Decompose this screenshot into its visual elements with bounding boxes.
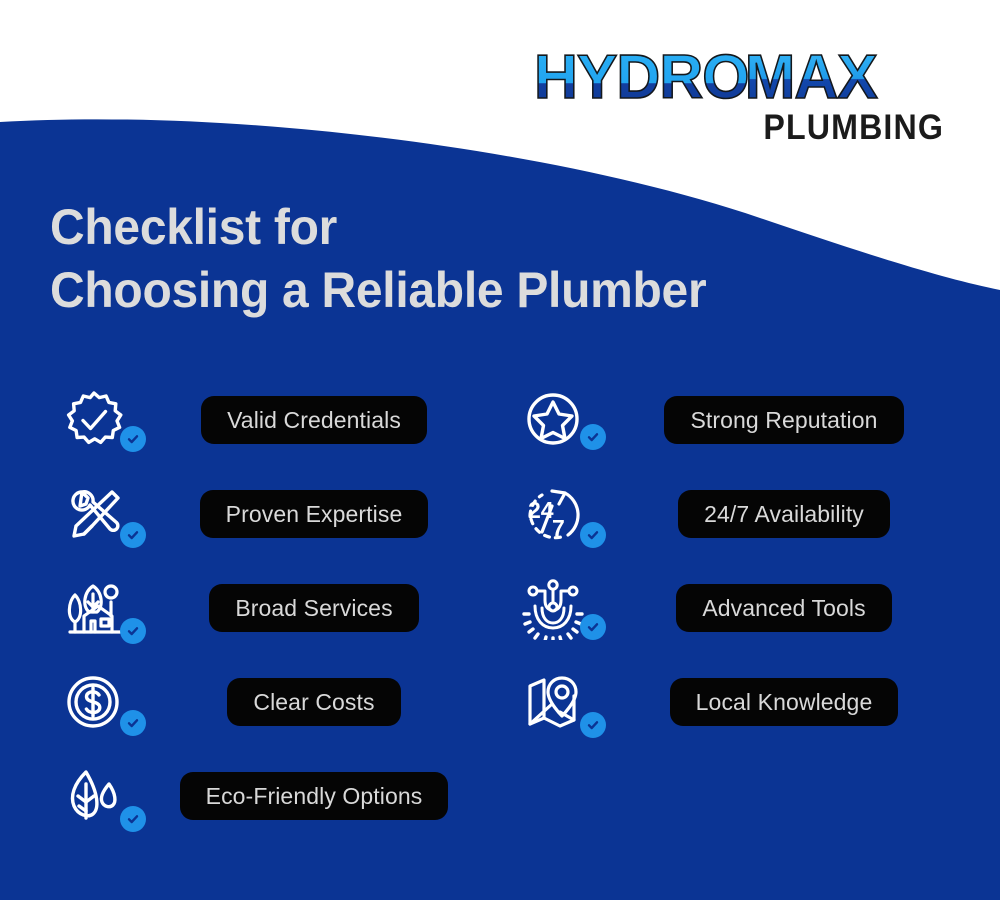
checklist-label[interactable]: Valid Credentials <box>201 396 427 444</box>
checklist-label[interactable]: Local Knowledge <box>670 678 899 726</box>
poster-canvas: HYDRO MAX PLUMBING Checklist for Choosin… <box>0 0 1000 900</box>
circuit-gear-icon <box>522 570 606 646</box>
checklist-item[interactable]: Clear Costs <box>62 664 482 758</box>
star-circle-icon <box>522 382 606 458</box>
svg-text:7: 7 <box>552 515 565 541</box>
checklist-item[interactable]: Eco-Friendly Options <box>62 758 482 852</box>
checklist-item[interactable]: Strong Reputation <box>522 382 962 476</box>
check-badge <box>120 522 146 548</box>
check-badge <box>120 806 146 832</box>
page-title-line-1: Checklist for <box>50 196 706 259</box>
twentyfour-seven-icon: 24 7 <box>522 476 606 552</box>
dollar-coin-icon <box>62 664 146 740</box>
checklist-item[interactable]: Advanced Tools <box>522 570 962 664</box>
checklist-column-right: Strong Reputation 24 7 <box>522 382 962 758</box>
page-title: Checklist for Choosing a Reliable Plumbe… <box>50 196 706 322</box>
verified-badge-icon <box>62 382 146 458</box>
checklist-item[interactable]: 24 7 24/7 Availability <box>522 476 962 570</box>
page-title-line-2: Choosing a Reliable Plumber <box>50 259 706 322</box>
checklist-item[interactable]: Proven Expertise <box>62 476 482 570</box>
checklist-item[interactable]: Broad Services <box>62 570 482 664</box>
checklist-label[interactable]: 24/7 Availability <box>678 490 890 538</box>
checklist-label[interactable]: Broad Services <box>209 584 418 632</box>
check-badge <box>580 614 606 640</box>
house-trees-icon <box>62 570 146 646</box>
checklist-column-left: Valid Credentials <box>62 382 482 852</box>
checklist-item[interactable]: Valid Credentials <box>62 382 482 476</box>
checklist-label[interactable]: Proven Expertise <box>200 490 429 538</box>
checklist-label[interactable]: Advanced Tools <box>676 584 891 632</box>
checklist-item[interactable]: Local Knowledge <box>522 664 962 758</box>
check-badge <box>120 618 146 644</box>
leaf-droplet-icon <box>62 758 146 834</box>
svg-text:MAX: MAX <box>745 46 878 108</box>
check-badge <box>580 712 606 738</box>
crossed-tools-icon <box>62 476 146 552</box>
logo-wordmark: HYDRO MAX <box>534 46 944 108</box>
check-badge <box>120 710 146 736</box>
brand-logo: HYDRO MAX PLUMBING <box>534 46 944 145</box>
map-pin-icon <box>522 664 606 740</box>
svg-text:HYDRO: HYDRO <box>534 46 749 108</box>
check-badge <box>580 522 606 548</box>
checklist-label[interactable]: Eco-Friendly Options <box>180 772 449 820</box>
logo-subtitle: PLUMBING <box>567 110 944 145</box>
check-badge <box>120 426 146 452</box>
checklist-label[interactable]: Strong Reputation <box>664 396 903 444</box>
checklist-label[interactable]: Clear Costs <box>227 678 400 726</box>
check-badge <box>580 424 606 450</box>
